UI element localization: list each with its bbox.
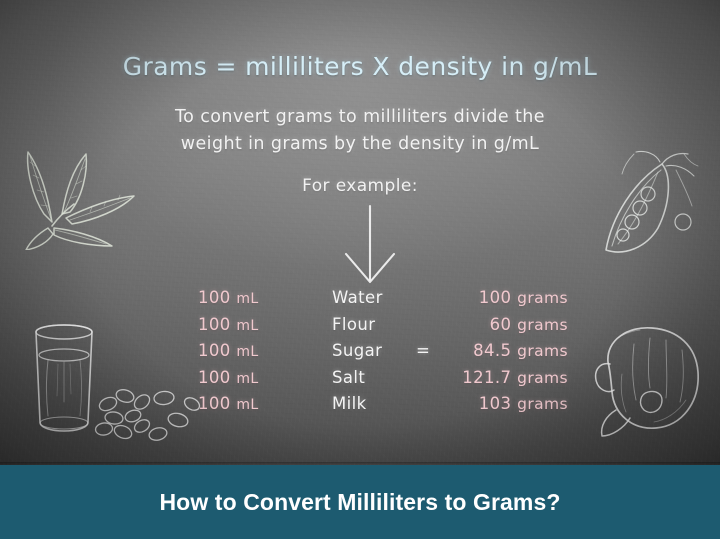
substance-cell: Salt <box>332 368 365 387</box>
bottom-banner: How to Convert Milliliters to Grams? <box>0 465 720 539</box>
page-title: Grams = milliliters X density in g/mL <box>0 52 720 81</box>
volume-cell: 100 mL <box>198 341 294 360</box>
chalkboard-infographic: Grams = milliliters X density in g/mL To… <box>0 0 720 539</box>
mass-cell: 100 grams <box>434 288 568 307</box>
mass-cell: 60 grams <box>434 315 568 334</box>
volume-cell: 100 mL <box>198 288 294 307</box>
substance-cell: Water <box>332 288 383 307</box>
substance-cell: Sugar <box>332 341 382 360</box>
water-glass-icon <box>22 318 106 442</box>
instruction-line-2: weight in grams by the density in g/mL <box>0 131 720 158</box>
volume-cell: 100 mL <box>198 315 294 334</box>
down-arrow-icon <box>338 204 402 286</box>
table-row: 100 mL Flour 60 grams <box>198 315 568 342</box>
table-row: 100 mL Salt 121.7 grams <box>198 368 568 395</box>
equals-cell: = <box>416 341 430 360</box>
instruction-text: To convert grams to milliliters divide t… <box>0 104 720 158</box>
ginger-root-icon <box>594 318 716 450</box>
volume-cell: 100 mL <box>198 368 294 387</box>
instruction-line-1: To convert grams to milliliters divide t… <box>0 104 720 131</box>
conversion-table: 100 mL Water 100 grams 100 mL Flour 60 g… <box>198 288 568 421</box>
banner-title: How to Convert Milliliters to Grams? <box>159 489 560 516</box>
pea-pod-icon <box>588 148 714 264</box>
mass-cell: 103 grams <box>434 394 568 413</box>
mass-cell: 84.5 grams <box>434 341 568 360</box>
table-row: 100 mL Milk 103 grams <box>198 394 568 421</box>
volume-cell: 100 mL <box>198 394 294 413</box>
table-row: 100 mL Sugar = 84.5 grams <box>198 341 568 368</box>
for-example-label: For example: <box>0 176 720 196</box>
substance-cell: Flour <box>332 315 375 334</box>
table-row: 100 mL Water 100 grams <box>198 288 568 315</box>
mass-cell: 121.7 grams <box>434 368 568 387</box>
substance-cell: Milk <box>332 394 367 413</box>
beans-icon <box>92 382 210 448</box>
